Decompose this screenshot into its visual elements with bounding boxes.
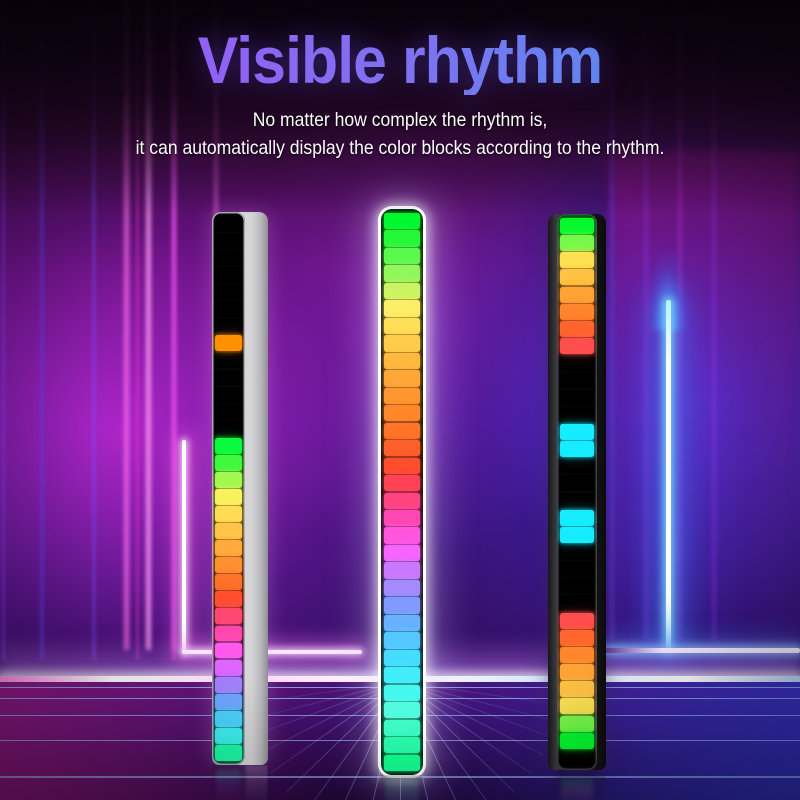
subtitle-line-2: it can automatically display the color b… xyxy=(40,135,760,163)
headline-block: Visible rhythm No matter how complex the… xyxy=(0,0,800,163)
page-title: Visible rhythm xyxy=(32,26,768,95)
subtitle-line-1: No matter how complex the rhythm is, xyxy=(40,107,760,135)
product-hero-image: Visible rhythm No matter how complex the… xyxy=(0,0,800,800)
